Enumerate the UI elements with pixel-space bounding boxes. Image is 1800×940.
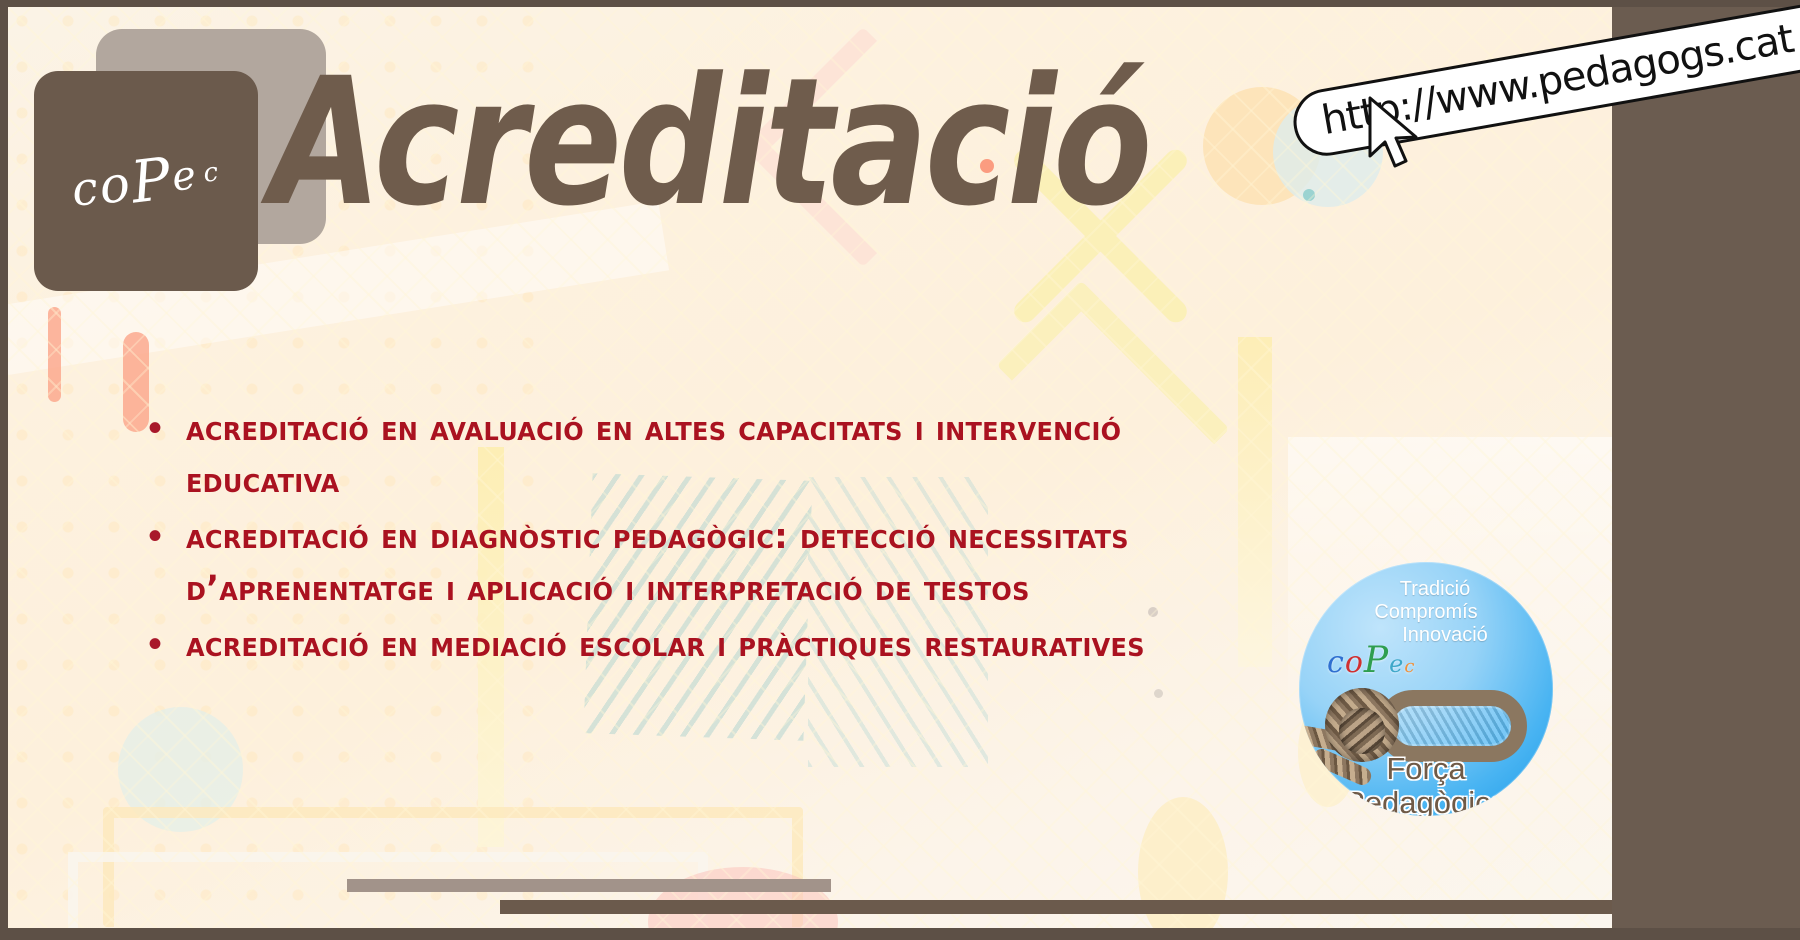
decor-dot-teal [1303,189,1315,201]
badge-letter-o: o [1345,645,1364,680]
list-item: • Acreditació en Mediació Escolar i Pràc… [148,619,1328,671]
bullet-list: • Acreditació en Avaluació en Altes Capa… [148,403,1328,675]
list-item: • Acreditació en Diagnòstic Pedagògic: D… [148,511,1328,615]
decor-coral-bar-1 [48,307,61,402]
list-item: • Acreditació en Avaluació en Altes Capa… [148,403,1328,507]
logo-letter-e: e [169,152,200,201]
bullet-dot-icon: • [148,619,186,669]
bullet-dot-icon: • [148,511,186,561]
badge-letter-c2: c [1404,656,1415,677]
bullet-text: Acreditació en Diagnòstic Pedagògic: Det… [186,511,1282,615]
badge-tagline: Força Pedagògica [1299,752,1553,816]
bullet-text: Acreditació en Mediació Escolar i Pràcti… [186,619,1145,671]
decor-bar-light [347,879,831,892]
badge-letter-c: c [1327,645,1345,680]
bullet-dot-icon: • [148,403,186,453]
frame-edge-left [0,0,8,940]
mouse-cursor-icon [1366,96,1436,176]
badge-letter-p: P [1364,640,1389,681]
rope-knot-inner-icon [1339,708,1385,754]
page-title: Acreditació [270,55,1149,231]
frame-edge-bottom [0,928,1800,940]
badge-tagline-line-1: Força [1299,752,1553,786]
badge-tagline-line-2: Pedagògica [1299,786,1553,816]
logo-letter-c2: c [202,157,222,189]
badge-motto-line-1: Tradició [1299,578,1553,601]
slide-frame: coPec Acreditació • Acreditació en Avalu… [0,0,1800,940]
bullet-text: Acreditació en Avaluació en Altes Capaci… [186,403,1282,507]
forca-pedagogica-badge[interactable]: Tradició Compromís Innovació coPec Força… [1299,562,1553,816]
badge-motto: Tradició Compromís Innovació [1299,578,1553,647]
decor-dot-gray-2 [1154,689,1163,698]
decor-pink-blob [648,867,838,928]
badge-copec-wordmark: coPec [1327,640,1415,681]
logo-wordmark: coPec [21,58,270,304]
decor-bar-dark [500,900,1612,914]
badge-letter-e: e [1389,650,1404,678]
decor-green-circle [118,707,243,832]
frame-edge-top [0,0,1800,7]
decor-coral-bar-2 [123,332,149,432]
badge-motto-line-2: Compromís [1299,601,1553,624]
